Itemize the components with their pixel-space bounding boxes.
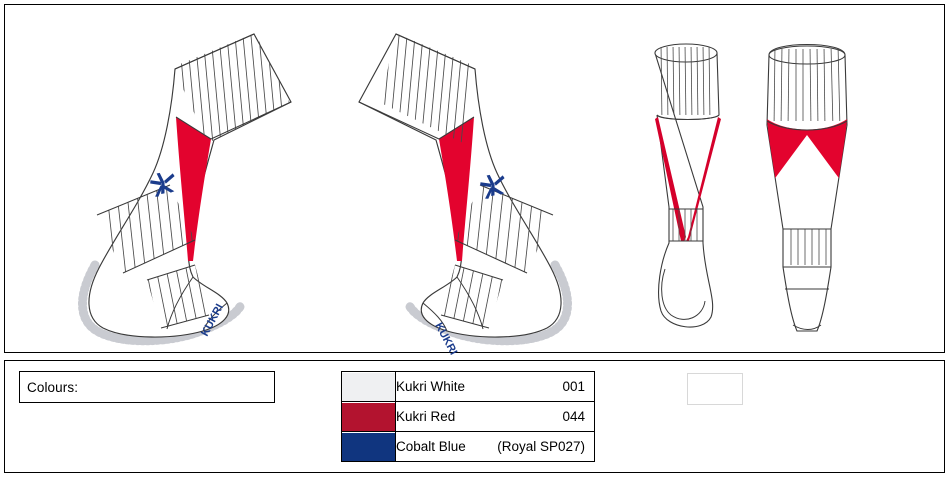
colour-code: (Royal SP027) — [497, 439, 585, 454]
colour-legend-table: Kukri White 001 Kukri Red 044 — [341, 371, 595, 462]
cuff-top-ellipse — [769, 46, 845, 64]
table-row: Kukri Red 044 — [342, 402, 595, 432]
colour-swatch-cobalt-blue — [342, 433, 395, 461]
spec-sheet: KUKRI — [0, 0, 950, 477]
swatch-cell-kukri-white — [342, 372, 396, 402]
swatch-cell-kukri-red — [342, 402, 396, 432]
colour-swatch-kukri-white — [342, 373, 395, 401]
legend-row-kukri-white: Kukri White 001 — [396, 372, 595, 402]
colour-code: 044 — [562, 409, 585, 424]
colour-swatch-kukri-red — [342, 403, 395, 431]
illustration-panel: KUKRI — [4, 4, 945, 353]
swatch-cell-cobalt-blue — [342, 432, 396, 462]
colour-code: 001 — [562, 379, 585, 394]
legend-row-kukri-red: Kukri Red 044 — [396, 402, 595, 432]
sock-side-view-right: KUKRI — [375, 25, 605, 345]
sock-side-view-left: KUKRI — [75, 25, 305, 345]
sock-body-outline — [767, 45, 847, 332]
legend-panel: Colours: Kukri White 001 — [4, 360, 945, 473]
colour-name: Cobalt Blue — [396, 439, 466, 454]
colours-label: Colours: — [20, 380, 78, 395]
colour-name: Kukri White — [396, 379, 465, 394]
sock-back-view — [641, 29, 751, 339]
sock-front-view — [757, 29, 877, 339]
colour-name: Kukri Red — [396, 409, 455, 424]
blank-note-box — [687, 373, 743, 405]
table-row: Kukri White 001 — [342, 372, 595, 402]
colours-label-box: Colours: — [19, 371, 275, 403]
table-row: Cobalt Blue (Royal SP027) — [342, 432, 595, 462]
cuff-top-ellipse — [655, 44, 717, 62]
legend-row-cobalt-blue: Cobalt Blue (Royal SP027) — [396, 432, 595, 462]
